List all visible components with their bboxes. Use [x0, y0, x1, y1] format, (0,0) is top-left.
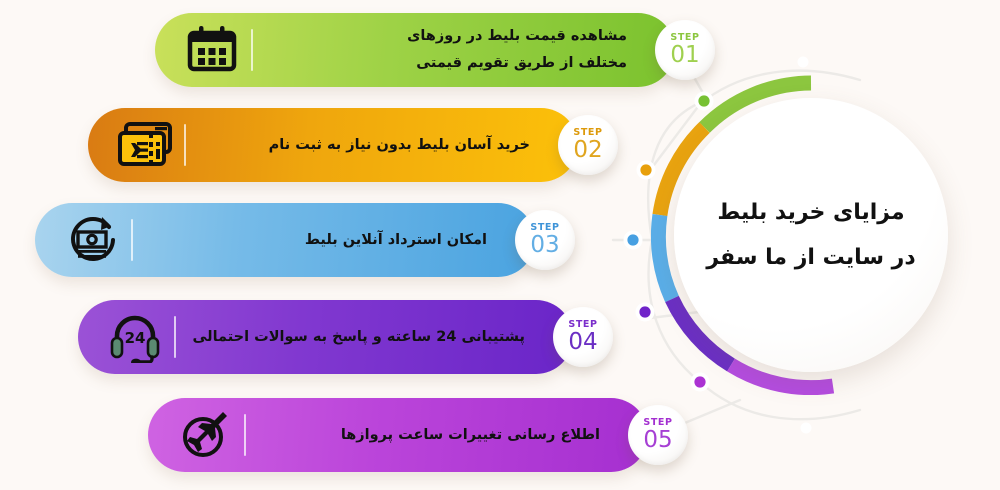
- step-badge-4-number: 04: [568, 331, 597, 354]
- step-pill-3[interactable]: امکان استرداد آنلاین بلیط: [35, 203, 535, 277]
- globe-plane-icon: [174, 404, 236, 466]
- step-badge-2-number: 02: [573, 139, 602, 162]
- step-text-4: پشتیبانی 24 ساعته و پاسخ به سوالات احتما…: [176, 324, 539, 351]
- step-badge-2[interactable]: STEP 02: [558, 115, 618, 175]
- center-title-line2: در سایت از ما سفر: [706, 235, 915, 280]
- step-row-2[interactable]: خرید آسان بلیط بدون نیاز به ثبت نام: [88, 108, 618, 182]
- step-text-3: امکان استرداد آنلاین بلیط: [133, 227, 501, 254]
- step-row-1[interactable]: مشاهده قیمت بلیط در روزهای مختلف از طریق…: [155, 13, 715, 87]
- step-text-1-line2: مختلف از طریق تقویم قیمتی: [263, 50, 627, 77]
- calendar-icon: [181, 19, 243, 81]
- node-halo-3: [624, 231, 643, 250]
- headset-support-icon: 24: [104, 306, 166, 368]
- ring-segment-3: [658, 215, 672, 299]
- step-badge-1-number: 01: [670, 44, 699, 67]
- infographic-canvas: مشاهده قیمت بلیط در روزهای مختلف از طریق…: [0, 0, 1000, 490]
- step-pill-4[interactable]: پشتیبانی 24 ساعته و پاسخ به سوالات احتما…: [78, 300, 573, 374]
- node-dot-bottom-decor: [801, 423, 812, 434]
- node-dot-top-decor: [798, 57, 809, 68]
- step-text-5: اطلاع رسانی تغییرات ساعت پروازها: [246, 422, 614, 449]
- step-row-5[interactable]: اطلاع رسانی تغییرات ساعت پروازها STEP 05: [148, 398, 688, 472]
- step-text-3-line1: امکان استرداد آنلاین بلیط: [143, 227, 487, 254]
- step-badge-3[interactable]: STEP 03: [515, 210, 575, 270]
- center-hub: مزایای خرید بلیط در سایت از ما سفر: [651, 75, 971, 395]
- step-text-1: مشاهده قیمت بلیط در روزهای مختلف از طریق…: [253, 23, 641, 77]
- center-title-disc: مزایای خرید بلیط در سایت از ما سفر: [674, 98, 948, 372]
- step-text-4-line1: پشتیبانی 24 ساعته و پاسخ به سوالات احتما…: [186, 324, 525, 351]
- step-text-5-line1: اطلاع رسانی تغییرات ساعت پروازها: [256, 422, 600, 449]
- money-refund-icon: [61, 209, 123, 271]
- node-dot-2: [640, 164, 651, 175]
- step-badge-1[interactable]: STEP 01: [655, 20, 715, 80]
- step-pill-1[interactable]: مشاهده قیمت بلیط در روزهای مختلف از طریق…: [155, 13, 675, 87]
- step-row-3[interactable]: امکان استرداد آنلاین بلیط STEP 03: [35, 203, 575, 277]
- node-dot-3: [627, 234, 638, 245]
- svg-text:24: 24: [125, 329, 146, 347]
- node-dot-4: [639, 306, 650, 317]
- center-title-line1: مزایای خرید بلیط: [717, 190, 904, 235]
- step-text-2-line1: خرید آسان بلیط بدون نیاز به ثبت نام: [196, 132, 530, 159]
- step-badge-5-number: 05: [643, 429, 672, 452]
- step-pill-2[interactable]: خرید آسان بلیط بدون نیاز به ثبت نام: [88, 108, 578, 182]
- step-text-1-line1: مشاهده قیمت بلیط در روزهای: [263, 23, 627, 50]
- step-row-4[interactable]: پشتیبانی 24 ساعته و پاسخ به سوالات احتما…: [78, 300, 613, 374]
- connector-line-5: [680, 400, 740, 425]
- ticket-plane-icon: [114, 114, 176, 176]
- step-pill-5[interactable]: اطلاع رسانی تغییرات ساعت پروازها: [148, 398, 648, 472]
- step-badge-3-number: 03: [530, 234, 559, 257]
- step-text-2: خرید آسان بلیط بدون نیاز به ثبت نام: [186, 132, 544, 159]
- step-badge-5[interactable]: STEP 05: [628, 405, 688, 465]
- step-badge-4[interactable]: STEP 04: [553, 307, 613, 367]
